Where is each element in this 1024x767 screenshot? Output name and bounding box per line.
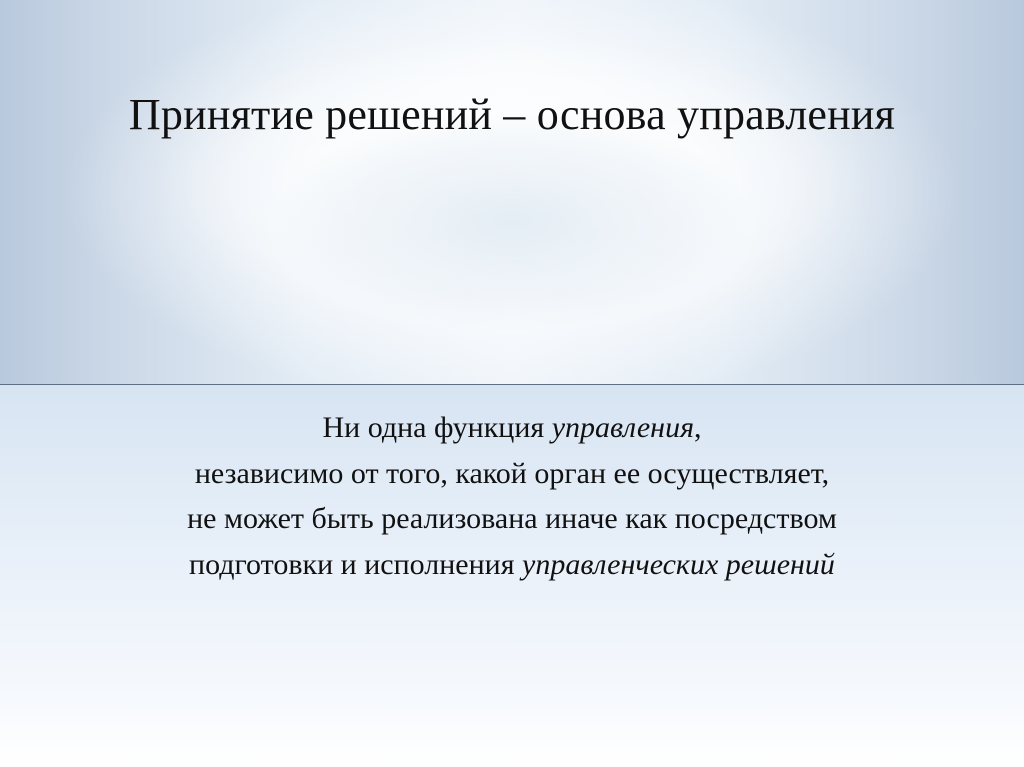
presentation-slide: Принятие решений – основа управления Ни … bbox=[0, 0, 1024, 767]
slide-title: Принятие решений – основа управления bbox=[60, 88, 964, 142]
body-line-1-tail: , bbox=[694, 411, 702, 444]
body-line-4: подготовки и исполнения управленческих р… bbox=[20, 542, 1004, 588]
body-line-1: Ни одна функция управления, bbox=[20, 405, 1004, 451]
body-line-3: не может быть реализована иначе как поср… bbox=[20, 496, 1004, 542]
body-line-2: независимо от того, какой орган ее осуще… bbox=[20, 451, 1004, 497]
body-line-4-plain: подготовки и исполнения bbox=[189, 548, 522, 581]
body-line-1-plain: Ни одна функция bbox=[322, 411, 551, 444]
slide-body: Ни одна функция управления, независимо о… bbox=[20, 405, 1004, 587]
body-line-1-italic: управления bbox=[552, 411, 694, 444]
body-line-4-italic: управленческих решений bbox=[522, 548, 835, 581]
title-background bbox=[0, 0, 1024, 384]
